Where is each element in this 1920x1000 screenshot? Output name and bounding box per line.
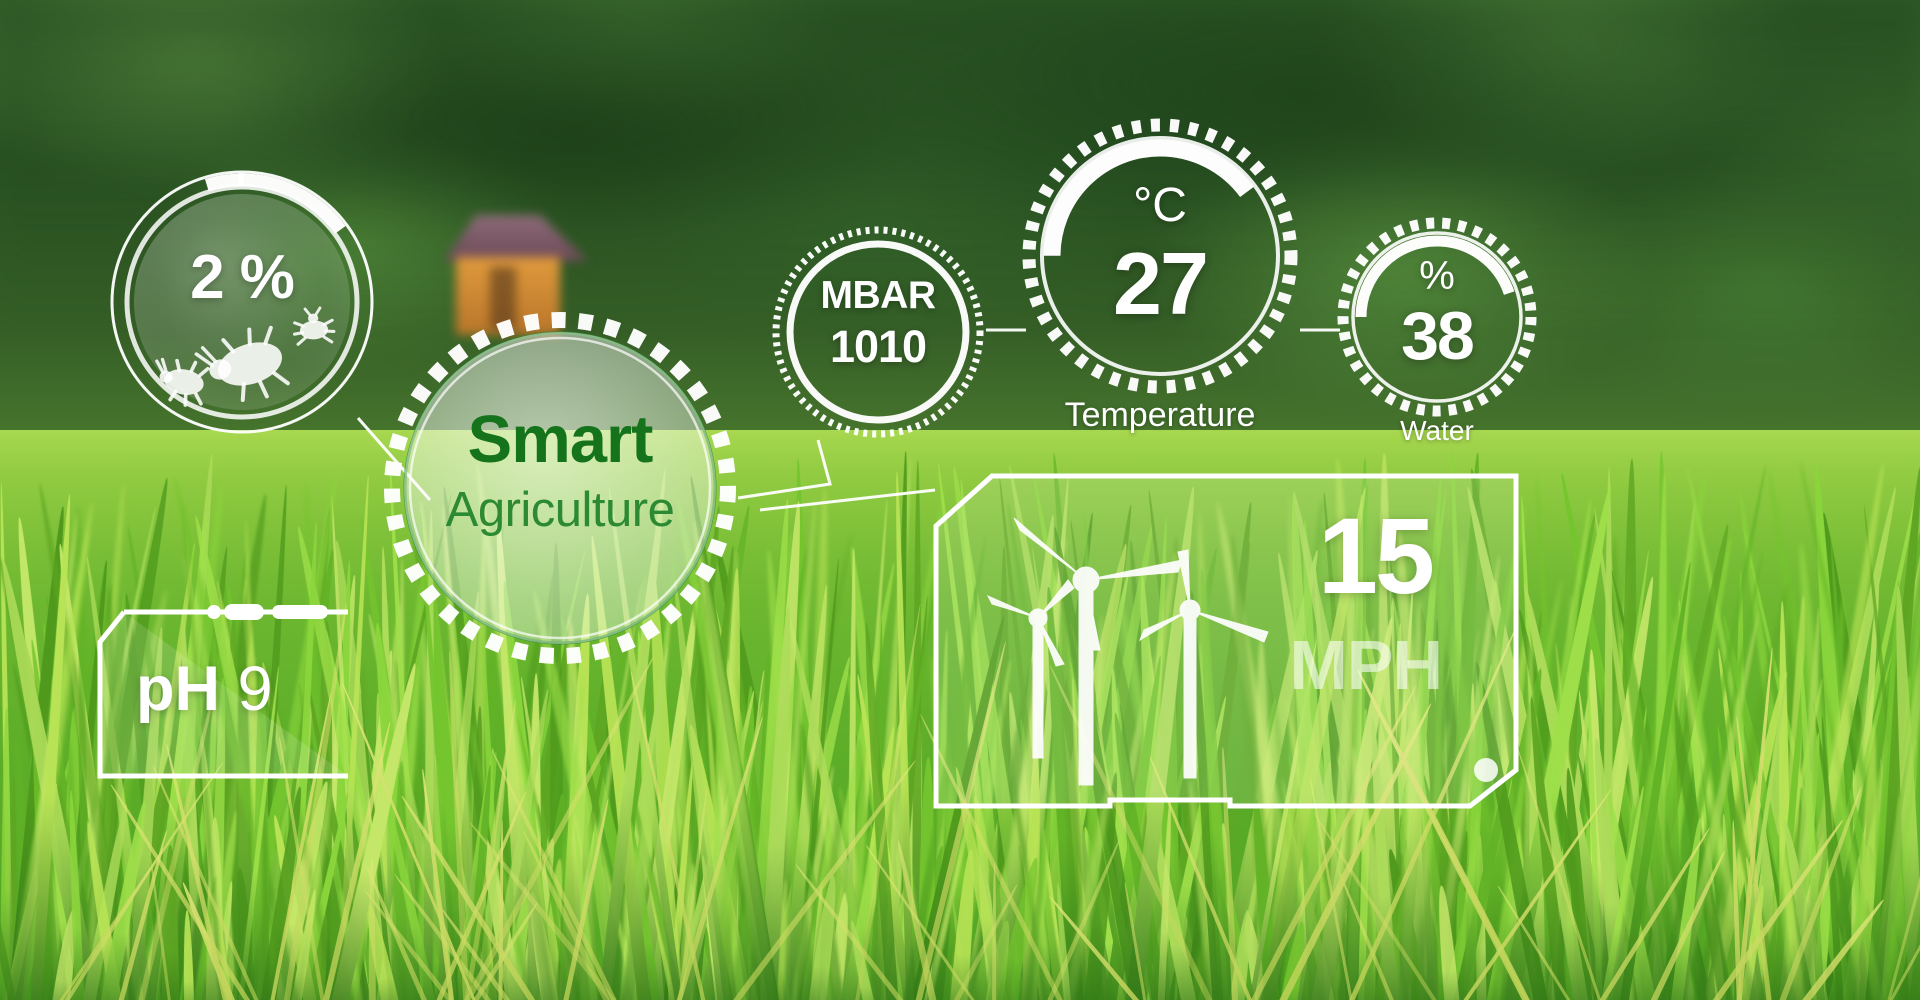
temperature-value: 27 [1022,240,1298,328]
water-value: 38 [1338,302,1536,370]
smart-agriculture-badge[interactable]: Smart Agriculture [382,310,738,666]
ph-panel[interactable]: pH 9 [96,608,348,780]
smart-agriculture-infographic: 2 % [0,0,1920,1000]
brand-line-2: Agriculture [382,486,738,535]
ph-label: pH [136,654,220,724]
wind-speed-unit: MPH [1289,630,1442,700]
insect-icon [108,168,376,436]
water-gauge[interactable]: % 38 [1338,218,1536,416]
pressure-value: 1010 [772,321,984,373]
pressure-unit: MBAR [772,274,984,318]
ph-value: 9 [238,654,273,724]
brand-line-1: Smart [382,406,738,473]
hut-roof [428,215,588,261]
pest-gauge[interactable]: 2 % [108,168,376,436]
wind-panel[interactable]: 15 MPH [930,470,1520,810]
temperature-gauge[interactable]: °C 27 [1022,118,1298,394]
ph-readout: pH 9 [136,658,273,721]
temperature-label: Temperature [1042,396,1278,435]
wind-speed-value: 15 [1318,502,1432,610]
water-label: Water [1348,415,1526,447]
water-unit: % [1338,254,1536,299]
temperature-unit: °C [1022,178,1298,233]
pressure-gauge[interactable]: MBAR 1010 [772,226,984,438]
